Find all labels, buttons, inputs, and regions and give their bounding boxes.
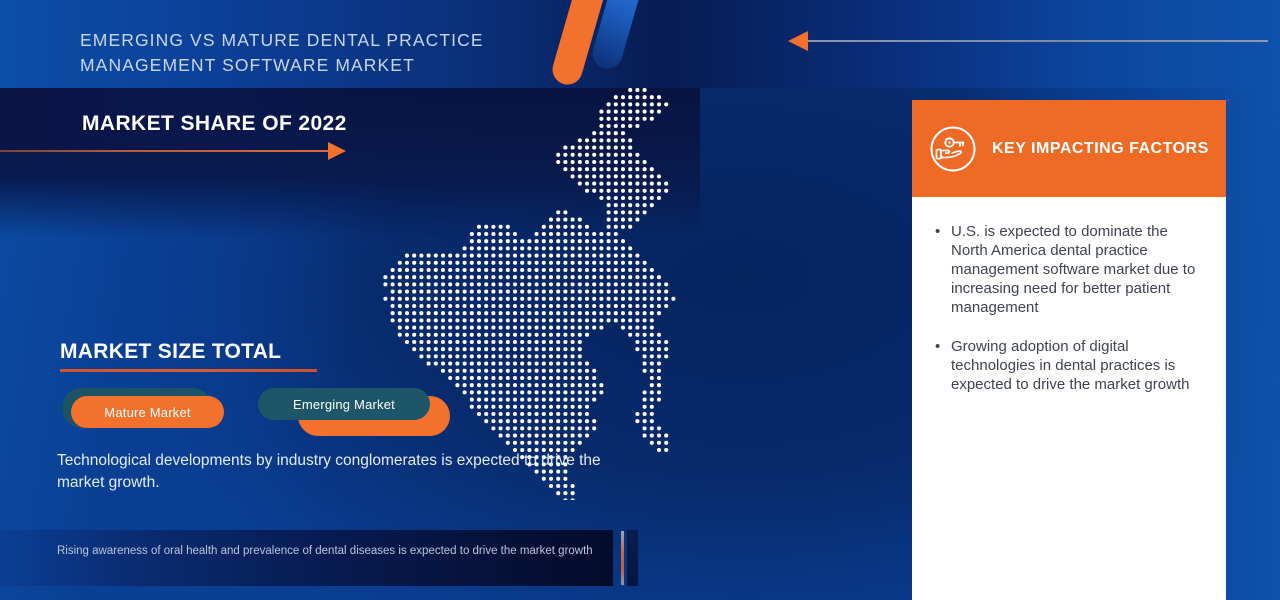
- market-size-underline: [60, 369, 317, 372]
- bottom-tail-block: [627, 530, 638, 586]
- key-factors-title: KEY IMPACTING FACTORS: [992, 140, 1209, 158]
- legend-item-mature-market[interactable]: Mature Market: [62, 388, 237, 436]
- page-title: EMERGING VS MATURE DENTAL PRACTICE MANAG…: [80, 28, 600, 78]
- arrow-left-line: [806, 40, 1268, 42]
- legend-item-emerging-market[interactable]: Emerging Market: [258, 388, 453, 436]
- arrow-left-icon: [788, 40, 1268, 42]
- key-factors-list: • U.S. is expected to dominate the North…: [935, 222, 1203, 414]
- key-factors-card-shadow: [1231, 190, 1240, 600]
- market-share-heading: MARKET SHARE OF 2022: [82, 112, 347, 136]
- legend-mature-pill: Mature Market: [71, 396, 224, 428]
- double-bar-logo-icon: [555, 0, 675, 96]
- infographic-slide: EMERGING VS MATURE DENTAL PRACTICE MANAG…: [0, 0, 1280, 600]
- list-bullet: •: [935, 222, 951, 317]
- market-size-heading: MARKET SIZE TOTAL: [60, 340, 281, 364]
- list-item: • U.S. is expected to dominate the North…: [935, 222, 1203, 317]
- bottom-accent-line: [621, 531, 624, 585]
- market-size-body-text: Technological developments by industry c…: [57, 450, 602, 494]
- list-item-text: U.S. is expected to dominate the North A…: [951, 222, 1203, 317]
- north-america-dotted-map: [370, 88, 800, 500]
- arrow-right-icon: [0, 142, 348, 162]
- hand-holding-key-icon: [928, 124, 978, 174]
- bottom-note-text: Rising awareness of oral health and prev…: [57, 543, 597, 559]
- key-factors-header: KEY IMPACTING FACTORS: [912, 100, 1226, 197]
- bottom-note-bar: Rising awareness of oral health and prev…: [0, 530, 613, 586]
- list-item: • Growing adoption of digital technologi…: [935, 337, 1203, 394]
- arrow-left-head: [788, 31, 808, 51]
- arrow-right-head: [328, 142, 346, 160]
- arrow-right-line: [0, 150, 330, 152]
- market-legend: Mature Market Emerging Market: [62, 388, 482, 438]
- legend-emerging-pill: Emerging Market: [258, 388, 430, 420]
- list-bullet: •: [935, 337, 951, 394]
- list-item-text: Growing adoption of digital technologies…: [951, 337, 1203, 394]
